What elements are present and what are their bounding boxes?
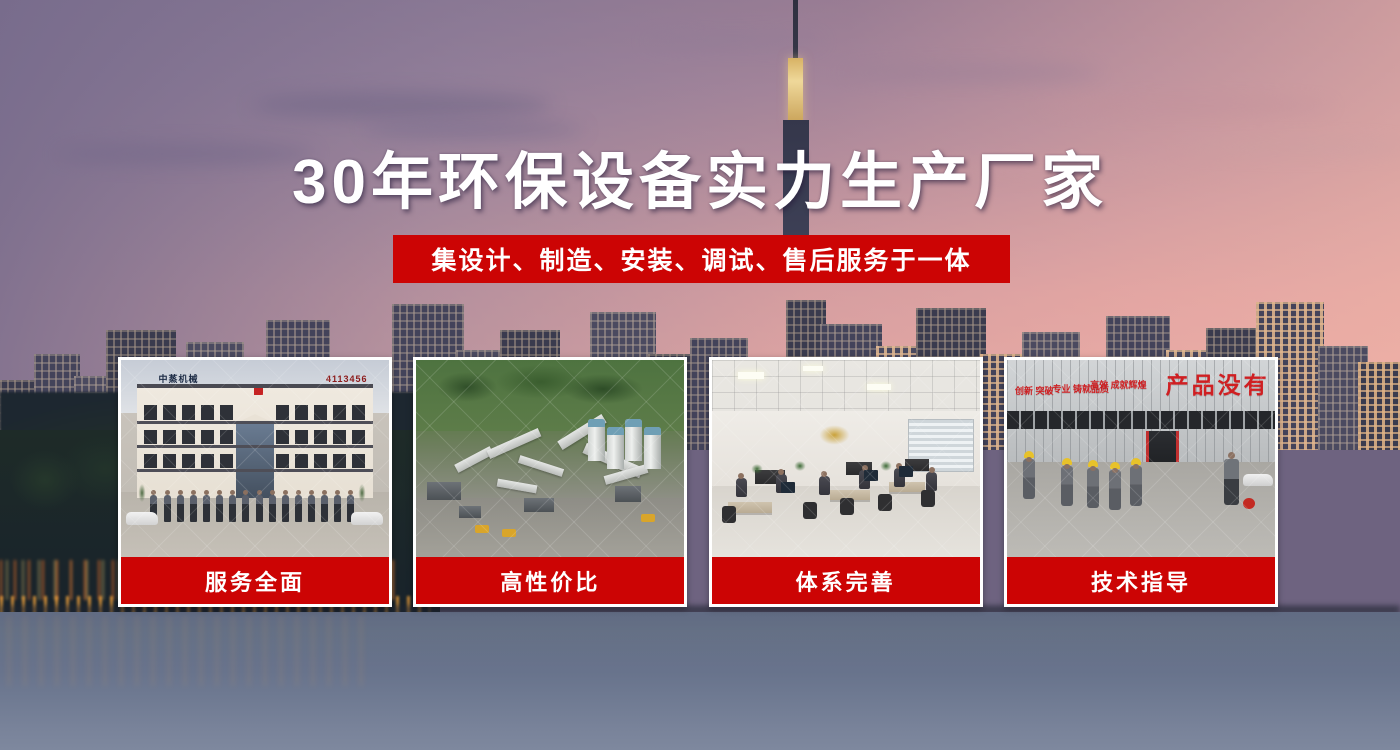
building-window bbox=[333, 405, 346, 419]
feature-card[interactable]: 中蒸机械 4113456 服务全面 bbox=[118, 357, 392, 607]
building-window bbox=[333, 454, 346, 468]
staff-person bbox=[256, 495, 263, 522]
potted-plant bbox=[878, 459, 894, 473]
feature-card-list: 中蒸机械 4113456 服务全面 高性价比 bbox=[118, 357, 1278, 607]
staff-person bbox=[177, 495, 184, 522]
building-window bbox=[314, 454, 327, 468]
building-window bbox=[144, 454, 157, 468]
staff-person bbox=[229, 495, 236, 522]
building-floor-line bbox=[137, 421, 373, 424]
building-entrance bbox=[236, 421, 274, 498]
building-window bbox=[333, 430, 346, 444]
plant-building bbox=[615, 486, 641, 502]
skyline-building bbox=[1358, 362, 1400, 450]
conveyor-structure bbox=[518, 456, 564, 478]
green-fields bbox=[416, 360, 684, 431]
card-caption: 高性价比 bbox=[416, 557, 684, 604]
wall-slogan-secondary: 高效 成就辉煌 bbox=[1090, 378, 1147, 391]
building-window bbox=[276, 405, 289, 419]
building-window bbox=[201, 454, 214, 468]
tower-spire-lit-section bbox=[788, 58, 803, 124]
building-window bbox=[220, 430, 233, 444]
workers-training-photo: 产品没有 创新 突破 专业 铸就品质 高效 成就辉煌 bbox=[1007, 360, 1275, 557]
office-chair bbox=[921, 490, 935, 507]
ceiling-light bbox=[738, 372, 764, 379]
building-sign: 中蒸机械 bbox=[159, 370, 255, 388]
cloud-shape bbox=[252, 92, 552, 118]
feature-card[interactable]: 高性价比 bbox=[413, 357, 687, 607]
office-chair bbox=[840, 498, 854, 515]
computer-monitor bbox=[864, 470, 878, 481]
aerial-production-plant-photo bbox=[416, 360, 684, 557]
water-reflections bbox=[8, 616, 368, 686]
excavator bbox=[641, 514, 655, 522]
potted-plant bbox=[749, 462, 765, 476]
tree bbox=[357, 480, 367, 506]
worker-person bbox=[1109, 470, 1121, 510]
staff-person bbox=[282, 495, 289, 522]
staff-person bbox=[203, 495, 210, 522]
conveyor-structure bbox=[496, 479, 537, 494]
building-window bbox=[295, 430, 308, 444]
conveyor-structure bbox=[487, 428, 542, 459]
storage-silo bbox=[607, 427, 624, 469]
tree bbox=[137, 480, 147, 506]
building-window bbox=[220, 454, 233, 468]
building-window bbox=[295, 454, 308, 468]
office-worker bbox=[819, 476, 830, 495]
plant-building bbox=[427, 482, 461, 500]
building-window bbox=[144, 405, 157, 419]
staff-person bbox=[269, 495, 276, 522]
office-chair bbox=[878, 494, 892, 511]
parked-car bbox=[1243, 474, 1273, 486]
building-window bbox=[295, 405, 308, 419]
staff-person bbox=[334, 495, 341, 522]
building-window bbox=[182, 405, 195, 419]
staff-person bbox=[308, 495, 315, 522]
staff-person bbox=[216, 495, 223, 522]
subtitle-text: 集设计、制造、安装、调试、售后服务于一体 bbox=[431, 241, 971, 277]
building-floor-line bbox=[137, 469, 373, 472]
building-window bbox=[201, 405, 214, 419]
plant-building bbox=[459, 506, 481, 518]
staff-person bbox=[190, 495, 197, 522]
staff-person bbox=[295, 495, 302, 522]
computer-monitor bbox=[781, 482, 795, 493]
ceiling-light bbox=[803, 366, 823, 371]
wall-slogan-secondary: 创新 突破 bbox=[1015, 384, 1054, 397]
office-interior-photo bbox=[712, 360, 980, 557]
company-headquarters-photo: 中蒸机械 4113456 bbox=[121, 360, 389, 557]
parked-car bbox=[351, 512, 383, 525]
excavator bbox=[475, 525, 489, 533]
office-ceiling bbox=[712, 360, 980, 411]
wall-decal bbox=[813, 421, 856, 449]
building-phone-text: 4113456 bbox=[326, 374, 368, 384]
building-window bbox=[352, 405, 365, 419]
worker-person bbox=[1023, 459, 1035, 499]
worker-person bbox=[1087, 468, 1099, 508]
building-window bbox=[163, 454, 176, 468]
staff-person bbox=[164, 495, 171, 522]
building-window bbox=[314, 430, 327, 444]
flag-icon bbox=[254, 388, 263, 395]
worker-person bbox=[1061, 466, 1073, 506]
building-window bbox=[163, 430, 176, 444]
feature-card[interactable]: 产品没有 创新 突破 专业 铸就品质 高效 成就辉煌 技术指导 bbox=[1004, 357, 1278, 607]
storage-silo bbox=[588, 419, 605, 461]
office-worker bbox=[926, 472, 937, 491]
office-building bbox=[137, 384, 373, 498]
building-floor-line bbox=[137, 445, 373, 448]
building-window bbox=[182, 454, 195, 468]
promotional-banner: 30年环保设备实力生产厂家 集设计、制造、安装、调试、售后服务于一体 中蒸机械 … bbox=[0, 0, 1400, 750]
office-chair bbox=[722, 506, 736, 523]
cloud-shape bbox=[1036, 97, 1336, 115]
building-phone: 4113456 bbox=[276, 370, 367, 388]
building-window bbox=[314, 405, 327, 419]
building-window bbox=[276, 454, 289, 468]
instructor-person bbox=[1224, 459, 1239, 505]
building-window bbox=[220, 405, 233, 419]
plant-building bbox=[524, 498, 554, 512]
staff-person bbox=[242, 495, 249, 522]
building-window bbox=[163, 405, 176, 419]
red-helmet bbox=[1243, 498, 1255, 509]
warehouse-window-band bbox=[1007, 411, 1275, 429]
building-window bbox=[276, 430, 289, 444]
storage-silo bbox=[644, 427, 661, 469]
potted-plant bbox=[792, 459, 808, 473]
ceiling-light bbox=[867, 384, 891, 390]
excavator bbox=[502, 529, 516, 537]
card-caption: 技术指导 bbox=[1007, 557, 1275, 604]
building-window bbox=[201, 430, 214, 444]
building-window bbox=[182, 430, 195, 444]
building-sign-text: 中蒸机械 bbox=[159, 372, 199, 385]
cloud-shape bbox=[840, 63, 1100, 83]
staff-person bbox=[321, 495, 328, 522]
building-window bbox=[352, 430, 365, 444]
storage-silo bbox=[625, 419, 642, 461]
building-window bbox=[144, 430, 157, 444]
card-caption: 体系完善 bbox=[712, 557, 980, 604]
office-chair bbox=[803, 502, 817, 519]
page-title: 30年环保设备实力生产厂家 bbox=[0, 131, 1400, 221]
computer-monitor bbox=[899, 466, 913, 477]
subtitle-bar: 集设计、制造、安装、调试、售后服务于一体 bbox=[393, 235, 1010, 283]
building-window bbox=[352, 454, 365, 468]
office-worker bbox=[736, 478, 747, 497]
feature-card[interactable]: 体系完善 bbox=[709, 357, 983, 607]
worker-person bbox=[1130, 466, 1142, 506]
card-caption: 服务全面 bbox=[121, 557, 389, 604]
parked-car bbox=[126, 512, 158, 525]
wall-slogan-main: 产品没有 bbox=[1166, 366, 1270, 400]
